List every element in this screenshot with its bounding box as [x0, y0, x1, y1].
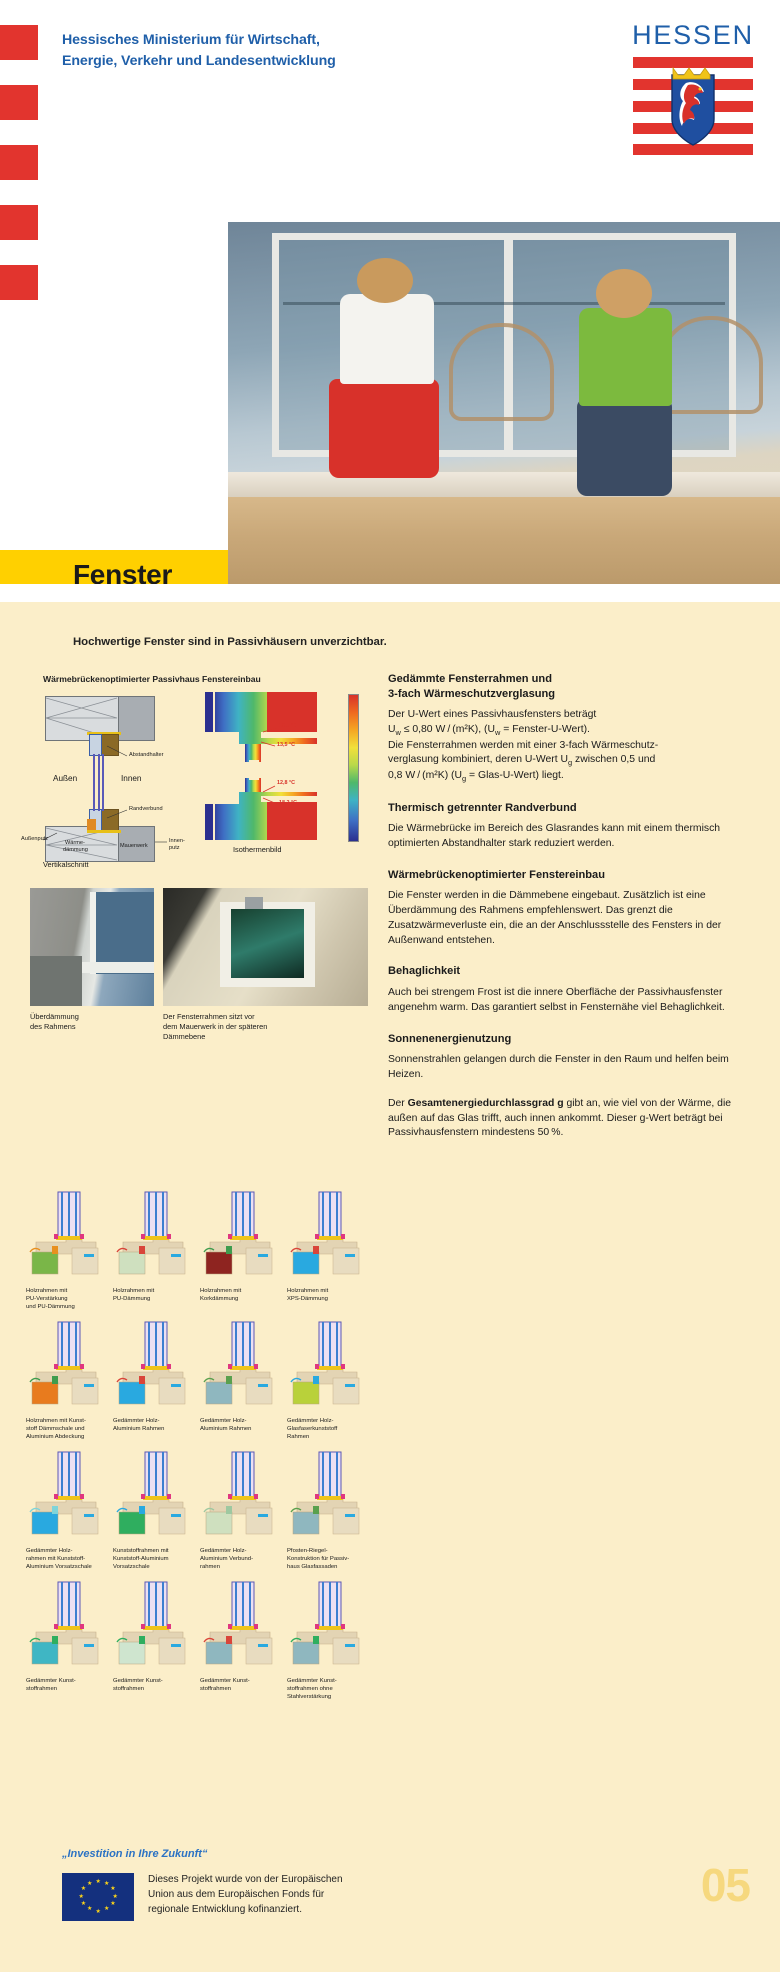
window-profile-label: Gedämmter Holz-Aluminium Rahmen — [200, 1418, 282, 1434]
window-profile-cell: Holzrahmen mitPU-Verstärkungund PU-Dämmu… — [22, 1190, 109, 1320]
label-abstandhalter: Abstandhalter — [129, 752, 164, 758]
label-innenputz-line2: putz — [169, 845, 180, 851]
hessen-wordmark: HESSEN — [628, 20, 758, 51]
window-profile-cell: Gedämmter Holz-Aluminium Rahmen — [196, 1320, 283, 1450]
child-standing — [565, 269, 686, 501]
window-profile-drawing — [200, 1320, 280, 1416]
red-tick — [0, 145, 38, 180]
window-profile-cell: Pfosten-Riegel-Konstruktion für Passiv-h… — [283, 1450, 370, 1580]
profile-grid-row: Holzrahmen mit Kunst-stoff Dämmschale un… — [22, 1320, 370, 1450]
page-number: 05 — [701, 1858, 750, 1912]
photo-caption-right-line1: Der Fensterrahmen sitzt vor — [163, 1012, 368, 1022]
window-profile-cell: Gedämmter Kunst-stoffrahmen — [196, 1580, 283, 1710]
red-tick — [0, 25, 38, 60]
hessen-flag-icon — [633, 57, 753, 155]
eu-star-icon: ★ — [87, 1907, 92, 1912]
label-innen: Innen — [121, 774, 142, 783]
window-profile-cell: Holzrahmen mitKorkdämmung — [196, 1190, 283, 1320]
profile-grid-row: Holzrahmen mitPU-Verstärkungund PU-Dämmu… — [22, 1190, 370, 1320]
section-body: Sonnenstrahlen gelangen durch die Fenste… — [388, 1053, 750, 1083]
window-profile-cell: Gedämmter Holz-Aluminium Rahmen — [109, 1320, 196, 1450]
window-profile-label: Holzrahmen mit Kunst-stoff Dämmschale un… — [26, 1418, 108, 1441]
photo-caption-left-line2: des Rahmens — [30, 1022, 154, 1032]
window-profile-cell: Gedämmter Kunst-stoffrahmen ohneStahlver… — [283, 1580, 370, 1710]
isotherm-temp-1: 13,5 °C — [277, 742, 295, 748]
photo-fensterrahmen-daemmebene — [163, 888, 368, 1006]
photo-caption-right-line3: Dämmebene — [163, 1032, 368, 1042]
window-profile-drawing — [200, 1190, 280, 1286]
section-body: Die Fenster werden in die Dämmebene eing… — [388, 889, 750, 948]
red-tick — [0, 85, 38, 120]
window-profile-drawing — [200, 1450, 280, 1546]
window-profile-cell: Holzrahmen mitXPS-Dämmung — [283, 1190, 370, 1320]
isotherm-diagram: 18,5 °C 13,5 °C 12,8 °C 18,2 °C Isotherm… — [205, 690, 365, 862]
isotherm-color-scale — [348, 694, 359, 842]
eu-star-icon: ★ — [96, 1910, 101, 1915]
label-waermedaemmung-line2: dämmung — [63, 847, 88, 853]
red-tick — [0, 265, 38, 300]
label-innenputz-line1: Innen- — [169, 838, 185, 844]
window-profile-label: Gedämmter Kunst-stoffrahmen — [26, 1678, 108, 1694]
isotherm-temp-0: 18,5 °C — [279, 723, 297, 729]
vertical-section-diagram: Abstandhalter Außen Innen Randverbund Au… — [43, 690, 193, 862]
eu-star-icon: ★ — [79, 1895, 84, 1900]
window-profile-cell: Gedämmter Kunst-stoffrahmen — [22, 1580, 109, 1710]
section-body: Auch bei strengem Frost ist die innere O… — [388, 986, 750, 1016]
isotherm-temp-3: 18,2 °C — [279, 800, 297, 806]
child-seated — [322, 258, 449, 482]
section-heading: Sonnenenergienutzung — [388, 1032, 750, 1047]
window-profile-label: Gedämmter Holz-Aluminium Rahmen — [113, 1418, 195, 1434]
caption-vertikalschnitt: Vertikalschnitt — [43, 860, 89, 869]
window-profile-drawing — [287, 1580, 367, 1676]
eu-star-icon: ★ — [104, 1907, 109, 1912]
eu-funding-line2: Union aus dem Europäischen Fonds für — [148, 1887, 438, 1902]
window-profile-label: Pfosten-Riegel-Konstruktion für Passiv-h… — [287, 1548, 369, 1571]
window-profile-label: Gedämmter Kunst-stoffrahmen — [113, 1678, 195, 1694]
section-heading: Wärmebrückenoptimierter Fenstereinbau — [388, 868, 750, 883]
photo-caption-left-line1: Überdämmung — [30, 1012, 154, 1022]
section-heading: Gedämmte Fensterrahmen und3-fach Wärmesc… — [388, 672, 750, 701]
eu-star-icon: ★ — [113, 1895, 118, 1900]
label-mauerwerk: Mauerwerk — [120, 843, 148, 849]
hessen-coat-of-arms-icon — [670, 65, 716, 147]
window-profile-drawing — [113, 1190, 193, 1286]
eu-flag-icon: ★★★★★★★★★★★★ — [62, 1873, 134, 1921]
window-profile-drawing — [200, 1580, 280, 1676]
red-tick — [0, 205, 38, 240]
window-profile-cell: Holzrahmen mitPU-Dämmung — [109, 1190, 196, 1320]
ministry-title-line1: Hessisches Ministerium für Wirtschaft, — [62, 30, 482, 51]
section-body: Die Wärmebrücke im Bereich des Glasrande… — [388, 822, 750, 852]
window-profile-label: Gedämmter Holz-Aluminium Verbund-rahmen — [200, 1548, 282, 1571]
label-aussenputz: Außenputz — [21, 836, 48, 842]
window-profile-label: Holzrahmen mitKorkdämmung — [200, 1288, 282, 1304]
label-waermedaemmung-line1: Wärme- — [65, 840, 85, 846]
page-footer: „Investition in Ihre Zukunft“ ★★★★★★★★★★… — [0, 1830, 780, 1972]
window-profile-cell: Gedämmter Holz-GlasfaserkunststoffRahmen — [283, 1320, 370, 1450]
window-profile-cell: Gedämmter Holz-Aluminium Verbund-rahmen — [196, 1450, 283, 1580]
window-profile-label: Gedämmter Kunst-stoffrahmen — [200, 1678, 282, 1694]
window-profile-cell: Holzrahmen mit Kunst-stoff Dämmschale un… — [22, 1320, 109, 1450]
window-profile-label: Kunststoffrahmen mitKunststoff-Aluminium… — [113, 1548, 195, 1571]
window-profile-label: Holzrahmen mitXPS-Dämmung — [287, 1288, 369, 1304]
ministry-title: Hessisches Ministerium für Wirtschaft, E… — [62, 30, 482, 71]
window-profile-drawing — [26, 1580, 106, 1676]
brochure-page: Hessisches Ministerium für Wirtschaft, E… — [0, 0, 780, 1972]
red-tick-marks — [0, 25, 38, 325]
lead-text: Hochwertige Fenster sind in Passivhäuser… — [73, 636, 673, 648]
eu-funding-line1: Dieses Projekt wurde von der Europäische… — [148, 1872, 438, 1887]
section-heading: Thermisch getrennter Randverbund — [388, 801, 750, 816]
caption-isothermenbild: Isothermenbild — [233, 845, 281, 854]
window-profile-drawing — [113, 1580, 193, 1676]
profile-grid-row: Gedämmter Kunst-stoffrahmenGedämmter Kun… — [22, 1580, 370, 1710]
window-profile-label: Holzrahmen mitPU-Verstärkungund PU-Dämmu… — [26, 1288, 108, 1311]
window-profile-drawing — [113, 1450, 193, 1546]
section-body: Der U-Wert eines Passivhausfensters betr… — [388, 708, 750, 784]
article-text-column: Gedämmte Fensterrahmen und3-fach Wärmesc… — [388, 672, 750, 1141]
eu-star-icon: ★ — [104, 1882, 109, 1887]
eu-star-icon: ★ — [110, 1887, 115, 1892]
window-profile-drawing — [287, 1450, 367, 1546]
page-header: Hessisches Ministerium für Wirtschaft, E… — [0, 0, 780, 215]
label-aussen: Außen — [53, 774, 77, 783]
window-profile-cell: Kunststoffrahmen mitKunststoff-Aluminium… — [109, 1450, 196, 1580]
investment-slogan: „Investition in Ihre Zukunft“ — [62, 1848, 207, 1860]
window-profile-cell: Gedämmter Kunst-stoffrahmen — [109, 1580, 196, 1710]
eu-funding-line3: regionale Entwicklung kofinanziert. — [148, 1902, 438, 1917]
eu-star-icon: ★ — [96, 1880, 101, 1885]
isotherm-temp-2: 12,8 °C — [277, 780, 295, 786]
figures-row: Abstandhalter Außen Innen Randverbund Au… — [30, 690, 370, 875]
label-randverbund: Randverbund — [129, 806, 163, 812]
eu-star-icon: ★ — [81, 1887, 86, 1892]
window-profile-drawing — [26, 1320, 106, 1416]
window-profile-label: Holzrahmen mitPU-Dämmung — [113, 1288, 195, 1304]
window-profile-cell: Gedämmter Holz-rahmen mit Kunststoff-Alu… — [22, 1450, 109, 1580]
eu-funding-text: Dieses Projekt wurde von der Europäische… — [148, 1872, 438, 1917]
window-profile-drawing — [26, 1450, 106, 1546]
hero-photo-children-at-window — [228, 222, 780, 584]
section-body: Der Gesamtenergiedurchlassgrad g gibt an… — [388, 1097, 750, 1141]
eu-star-icon: ★ — [110, 1902, 115, 1907]
photo-caption-right-line2: dem Mauerwerk in der späteren — [163, 1022, 368, 1032]
window-profile-grid: Holzrahmen mitPU-Verstärkungund PU-Dämmu… — [22, 1190, 370, 1710]
eu-star-icon: ★ — [81, 1902, 86, 1907]
ministry-title-line2: Energie, Verkehr und Landesentwicklung — [62, 51, 482, 72]
window-profile-drawing — [113, 1320, 193, 1416]
window-profile-label: Gedämmter Kunst-stoffrahmen ohneStahlver… — [287, 1678, 369, 1701]
window-profile-drawing — [287, 1190, 367, 1286]
window-profile-drawing — [287, 1320, 367, 1416]
figures-heading: Wärmebrückenoptimierter Passivhaus Fenst… — [43, 674, 363, 684]
hessen-logo: HESSEN — [628, 20, 758, 155]
eu-star-icon: ★ — [87, 1882, 92, 1887]
window-profile-drawing — [26, 1190, 106, 1286]
window-profile-label: Gedämmter Holz-rahmen mit Kunststoff-Alu… — [26, 1548, 108, 1571]
window-profile-label: Gedämmter Holz-GlasfaserkunststoffRahmen — [287, 1418, 369, 1441]
profile-grid-row: Gedämmter Holz-rahmen mit Kunststoff-Alu… — [22, 1450, 370, 1580]
photo-caption-right: Der Fensterrahmen sitzt vor dem Mauerwer… — [163, 1012, 368, 1042]
photo-caption-left: Überdämmung des Rahmens — [30, 1012, 154, 1032]
photo-ueberdaemmung — [30, 888, 154, 1006]
section-heading: Behaglichkeit — [388, 964, 750, 979]
